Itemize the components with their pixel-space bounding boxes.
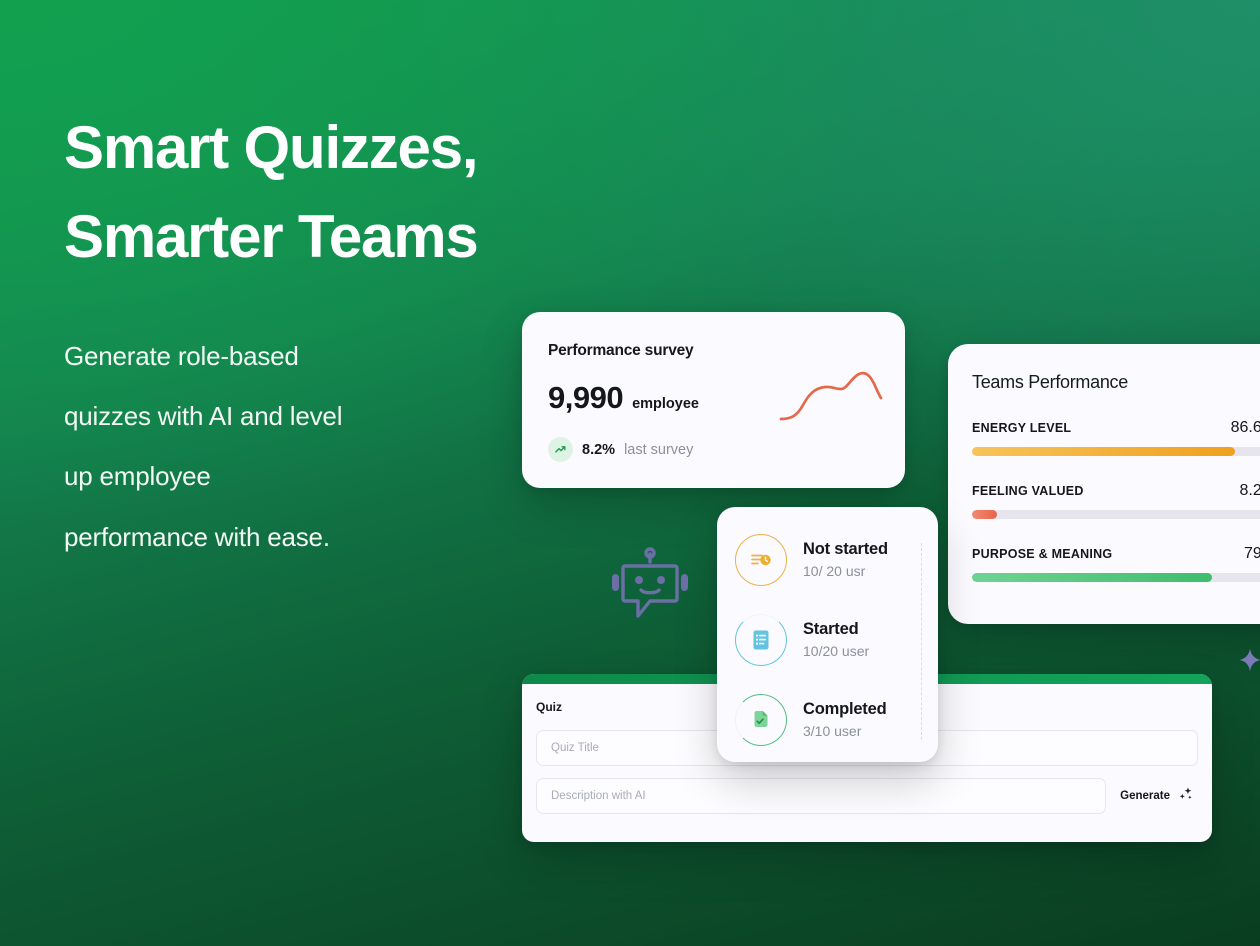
generate-button[interactable]: Generate [1120,786,1198,806]
status-label: Started [803,620,869,639]
performance-survey-delta: 8.2% last survey [548,437,879,462]
robot-chat-icon [610,546,690,631]
quiz-description-placeholder: Description with AI [551,790,646,802]
hero-copy: Smart Quizzes, Smarter Teams Generate ro… [64,104,584,567]
status-item-not-started: Not started 10/ 20 usr [735,527,920,592]
metric-label: FEELING VALUED [972,484,1084,498]
sparkle-icon [1177,786,1194,806]
metric-label: ENERGY LEVEL [972,421,1071,435]
status-item-started: Started 10/20 user [735,607,920,672]
quiz-description-input[interactable]: Description with AI [536,778,1106,814]
metric-label: PURPOSE & MEANING [972,547,1112,561]
divider [921,543,922,740]
status-item-completed: Completed 3/10 user [735,687,920,752]
status-label: Completed [803,700,886,719]
performance-survey-title: Performance survey [548,342,879,360]
page-title: Smart Quizzes, Smarter Teams [64,104,584,282]
clock-list-icon [735,534,787,586]
progress-track [972,510,1260,519]
document-check-icon [735,694,787,746]
trend-up-icon [548,437,573,462]
employee-count-unit: employee [632,396,699,412]
progress-track [972,573,1260,582]
sparkle-star-icon [1238,648,1260,677]
quiz-status-card: Not started 10/ 20 usr Started 10/20 use… [717,507,938,762]
metric-row: ENERGY LEVEL 86.6% [972,419,1260,456]
status-sublabel: 10/20 user [803,643,869,659]
delta-percent: 8.2% [582,442,615,458]
metric-value: 79% [1244,545,1260,563]
metric-value: 86.6% [1231,419,1260,437]
metric-row: FEELING VALUED 8.2% [972,482,1260,519]
performance-survey-card: Performance survey 9,990 employee 8.2% l… [522,312,905,488]
teams-performance-card: Teams Performance ENERGY LEVEL 86.6% FEE… [948,344,1260,624]
status-label: Not started [803,540,888,559]
progress-fill [972,447,1235,456]
delta-label: last survey [624,442,693,458]
metric-row: PURPOSE & MEANING 79% [972,545,1260,582]
quiz-title-placeholder: Quiz Title [551,742,599,754]
progress-fill [972,573,1212,582]
generate-button-label: Generate [1120,790,1170,802]
teams-performance-title: Teams Performance [972,372,1260,393]
metric-value: 8.2% [1240,482,1260,500]
promo-banner: Smart Quizzes, Smarter Teams Generate ro… [0,0,1260,946]
progress-track [972,447,1260,456]
status-sublabel: 3/10 user [803,723,886,739]
status-sublabel: 10/ 20 usr [803,563,888,579]
hero-subheadline: Generate role-based quizzes with AI and … [64,326,584,567]
progress-fill [972,510,997,519]
employee-count: 9,990 [548,380,623,416]
clipboard-list-icon [735,614,787,666]
sparkline-chart [777,360,887,430]
